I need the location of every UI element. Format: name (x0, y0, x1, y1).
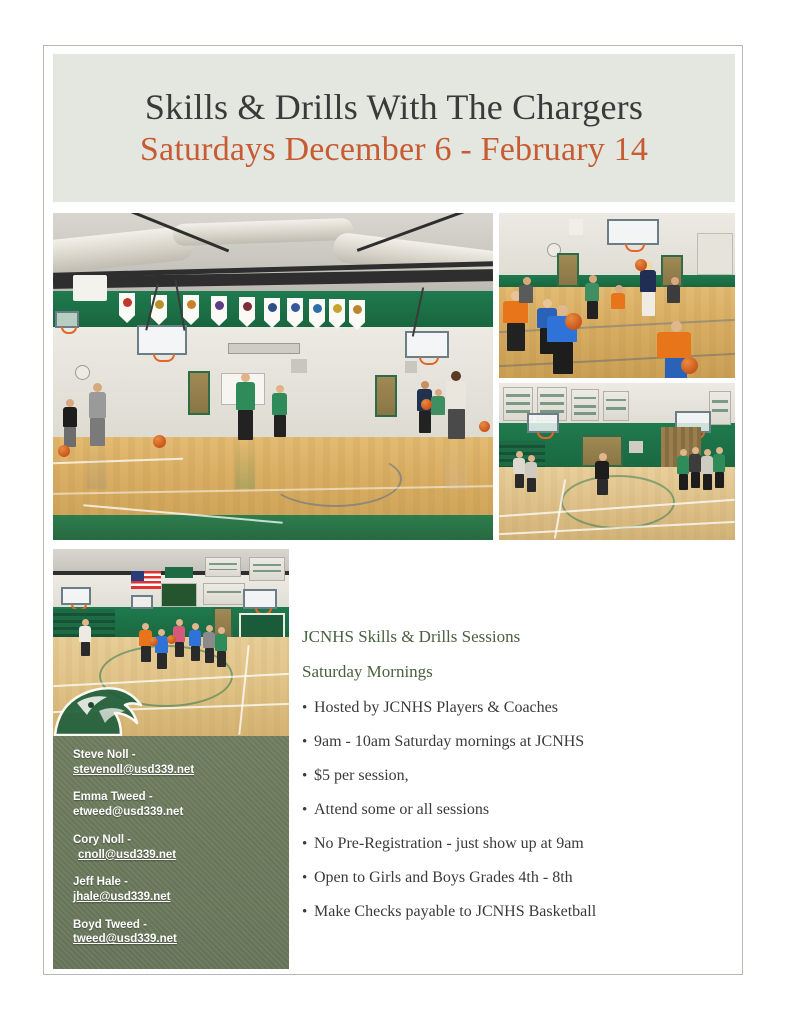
bullet-text: Attend some or all sessions (314, 800, 489, 820)
wall-sign-green (239, 613, 285, 639)
player-legs (217, 651, 226, 667)
info-bullet-price: • $5 per session, (302, 766, 722, 786)
player-legs (205, 648, 214, 663)
player-legs (157, 653, 167, 669)
record-board-1 (205, 557, 241, 577)
player-head (206, 625, 213, 632)
player-head (543, 299, 552, 308)
basketball-1 (149, 637, 158, 646)
player-torso (215, 634, 227, 651)
floor-three-point-arc (268, 451, 402, 507)
player-head (276, 385, 284, 393)
bullet-text: Make Checks payable to JCNHS Basketball (314, 902, 596, 922)
backboard-left (527, 413, 559, 433)
player-head (192, 623, 199, 630)
player-torso (595, 461, 609, 479)
contact-name: Cory Noll - (73, 833, 289, 848)
flag-canton (131, 571, 144, 581)
player-torso (513, 458, 525, 474)
gym-door-right (375, 375, 397, 417)
player-torso (519, 285, 533, 303)
contact-cory-noll: Cory Noll - cnoll@usd339.net (73, 833, 289, 862)
player-head (158, 629, 165, 636)
player-legs (419, 411, 431, 433)
wall-scoreboard-box (228, 343, 300, 354)
player-head (671, 321, 682, 332)
backboard (607, 219, 659, 245)
player-legs (642, 292, 655, 316)
player-head (589, 275, 597, 283)
record-strip (209, 569, 238, 571)
bullet-text: $5 per session, (314, 766, 409, 786)
contact-email[interactable]: jhale@usd339.net (73, 890, 289, 905)
basketball-4 (479, 421, 490, 432)
record-board-3 (203, 583, 245, 605)
player-legs (238, 410, 253, 440)
player-legs (81, 642, 90, 656)
bullet-dot-icon: • (302, 837, 314, 852)
flyer-page: Skills & Drills With The Chargers Saturd… (43, 45, 743, 975)
player-head (93, 383, 102, 392)
contact-email[interactable]: stevenoll@usd339.net (73, 763, 289, 778)
player-legs (691, 472, 700, 488)
wall-vent (629, 441, 643, 453)
wall-speaker (569, 219, 583, 235)
record-strip (606, 407, 626, 410)
player-torso (272, 393, 287, 415)
photo-main-gym (53, 213, 493, 540)
player-legs (597, 479, 608, 495)
info-bullet-attendance: • Attend some or all sessions (302, 800, 722, 820)
bullet-text: Hosted by JCNHS Players & Coaches (314, 698, 558, 718)
record-board-2 (249, 557, 285, 581)
record-strip (574, 397, 596, 400)
player-head (523, 277, 531, 285)
photo-gym-with-logo (53, 549, 289, 739)
player-torso (667, 285, 680, 303)
record-strip (207, 591, 241, 593)
player-legs (64, 427, 76, 447)
bullet-text: No Pre-Registration - just show up at 9a… (314, 834, 584, 854)
basketball-held-1 (565, 313, 582, 330)
player-legs (274, 415, 286, 437)
player-torso (525, 462, 537, 478)
player-legs (679, 474, 688, 490)
contact-email[interactable]: tweed@usd339.net (73, 932, 289, 947)
record-board-5 (709, 391, 731, 425)
player-legs (715, 472, 724, 488)
player-legs (587, 301, 598, 319)
player-head (716, 447, 723, 454)
info-bullet-time: • 9am - 10am Saturday mornings at JCNHS (302, 732, 722, 752)
floor-reflection-2 (235, 441, 255, 489)
contact-email[interactable]: etweed@usd339.net (73, 805, 289, 820)
player-head (528, 455, 535, 462)
backboard-mid (131, 595, 153, 609)
record-strip (540, 402, 564, 405)
player-head (680, 449, 687, 456)
contact-email[interactable]: cnoll@usd339.net (73, 848, 289, 863)
player-torso (713, 454, 725, 472)
contact-name: Emma Tweed - (73, 790, 289, 805)
contact-name: Jeff Hale - (73, 875, 289, 890)
contact-name: Steve Noll - (73, 748, 289, 763)
contact-emma-tweed: Emma Tweed - etweed@usd339.net (73, 790, 289, 819)
floor-reflection-1 (87, 447, 107, 489)
record-strip (574, 412, 596, 415)
player-head (176, 619, 183, 626)
player-torso (689, 454, 701, 472)
wall-speaker (73, 275, 107, 301)
basketball-2 (167, 635, 176, 644)
player-torso (657, 332, 691, 358)
player-head (451, 371, 461, 381)
backboard-far-left (55, 311, 79, 328)
info-bullet-grades: • Open to Girls and Boys Grades 4th - 8t… (302, 868, 722, 888)
contact-name: Boyd Tweed - (73, 918, 289, 933)
record-strip (574, 405, 596, 408)
photo-old-gym (499, 383, 735, 540)
player-torso (236, 382, 255, 410)
info-bullet-checks: • Make Checks payable to JCNHS Basketbal… (302, 902, 722, 922)
player-head (435, 389, 442, 396)
bullet-dot-icon: • (302, 735, 314, 750)
player-head (66, 399, 74, 407)
wall-panel-2 (405, 361, 417, 373)
record-strip (253, 570, 282, 572)
player-torso (446, 381, 466, 409)
info-heading-mornings: Saturday Mornings (302, 661, 722, 682)
player-torso (431, 396, 445, 415)
team-photo-board (161, 583, 197, 607)
player-torso (677, 456, 689, 474)
photo-dribbling-drill (499, 213, 735, 378)
record-strip (506, 394, 530, 397)
floor-key-arc (561, 475, 675, 529)
wall-clock (75, 365, 90, 380)
player-head (82, 619, 89, 626)
basketball-3 (421, 399, 432, 410)
player-torso (89, 392, 106, 418)
player-legs (175, 642, 184, 657)
player-legs (448, 409, 465, 439)
flyer-subtitle: Saturdays December 6 - February 14 (140, 130, 648, 169)
contact-steve-noll: Steve Noll - stevenoll@usd339.net (73, 748, 289, 777)
player-head (241, 373, 250, 382)
player-head (557, 305, 568, 316)
record-strip (253, 564, 282, 566)
wall-pad (697, 233, 733, 275)
basketball-held-2 (681, 357, 698, 374)
info-heading-sessions: JCNHS Skills & Drills Sessions (302, 626, 722, 647)
player-torso (611, 293, 625, 309)
bullet-text: 9am - 10am Saturday mornings at JCNHS (314, 732, 584, 752)
player-head (599, 453, 607, 461)
player-legs (527, 478, 536, 492)
basketball-2 (58, 445, 70, 457)
player-head (671, 277, 679, 285)
player-head (218, 627, 225, 634)
floor-green-band (53, 515, 493, 540)
player-head (704, 449, 711, 456)
record-board-4 (603, 391, 629, 421)
player-torso (79, 626, 91, 642)
session-info: JCNHS Skills & Drills Sessions Saturday … (302, 626, 722, 936)
info-bullet-hosted-by: • Hosted by JCNHS Players & Coaches (302, 698, 722, 718)
player-head (615, 285, 623, 293)
gym-door-left (188, 371, 210, 415)
bullet-dot-icon: • (302, 769, 314, 784)
backboard-right (243, 589, 277, 609)
bullet-text: Open to Girls and Boys Grades 4th - 8th (314, 868, 573, 888)
floor-reflection-3 (445, 441, 467, 489)
american-flag (131, 571, 161, 589)
record-strip (712, 400, 729, 403)
basketball-1 (153, 435, 166, 448)
charger-horse-icon (53, 677, 167, 739)
flyer-title: Skills & Drills With The Chargers (145, 87, 643, 128)
player-torso (701, 456, 713, 474)
basketball-shot (635, 259, 647, 271)
player-torso (503, 301, 528, 323)
record-strip (506, 402, 530, 405)
contact-panel: Steve Noll - stevenoll@usd339.net Emma T… (53, 736, 289, 969)
player-head (142, 623, 149, 630)
record-strip (209, 563, 238, 565)
record-strip (606, 399, 626, 402)
player-head (421, 381, 429, 389)
wall-panel-1 (291, 359, 307, 373)
gym-door-left (557, 253, 579, 287)
record-strip (712, 409, 729, 412)
player-legs (141, 646, 151, 662)
backboard-left (61, 587, 91, 605)
player-legs (703, 474, 712, 490)
player-torso (189, 630, 201, 646)
contact-jeff-hale: Jeff Hale - jhale@usd339.net (73, 875, 289, 904)
banner-green-1 (165, 567, 193, 578)
record-board-3 (571, 389, 599, 421)
player-head (692, 447, 699, 454)
player-legs (553, 342, 573, 374)
player-legs (191, 646, 200, 661)
record-strip (540, 394, 564, 397)
player-legs (507, 323, 525, 351)
bullet-dot-icon: • (302, 905, 314, 920)
player-torso (203, 632, 215, 648)
contact-boyd-tweed: Boyd Tweed - tweed@usd339.net (73, 918, 289, 947)
player-torso (585, 283, 599, 301)
charger-horse-logo (53, 677, 167, 739)
player-torso (640, 270, 656, 292)
bullet-dot-icon: • (302, 803, 314, 818)
player-legs (90, 418, 105, 446)
player-legs (515, 474, 524, 488)
info-bullet-registration: • No Pre-Registration - just show up at … (302, 834, 722, 854)
bullet-dot-icon: • (302, 871, 314, 886)
flyer-header: Skills & Drills With The Chargers Saturd… (53, 54, 735, 202)
bullet-dot-icon: • (302, 701, 314, 716)
player-torso (63, 407, 77, 427)
player-head (516, 451, 523, 458)
